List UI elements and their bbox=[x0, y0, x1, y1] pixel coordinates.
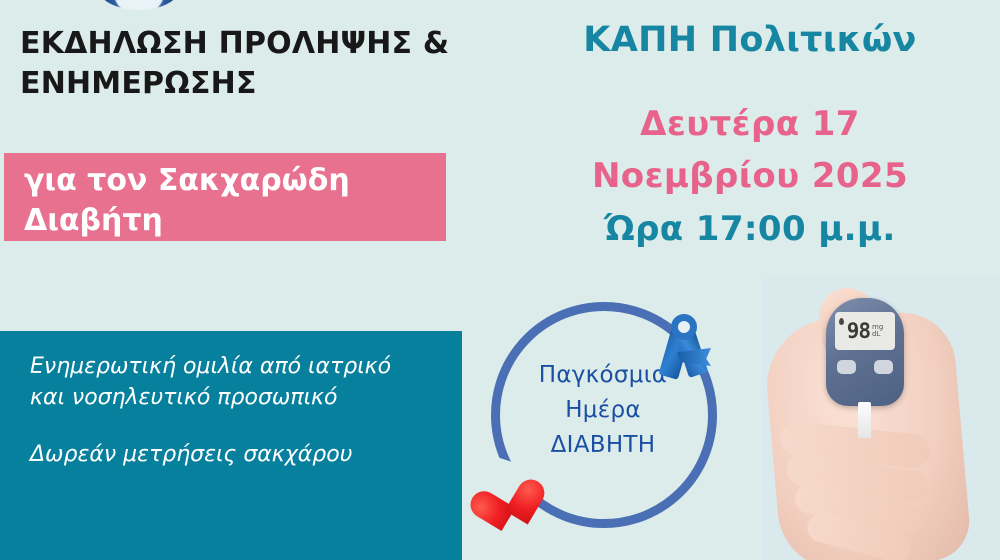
glucose-reading-value: 98 bbox=[847, 319, 870, 343]
test-strip bbox=[858, 402, 871, 438]
organization-logo-icon bbox=[98, 0, 180, 10]
event-date-block: Δευτέρα 17 Νοεμβρίου 2025 Ώρα 17:00 μ.μ. bbox=[510, 98, 990, 255]
venue-title: ΚΑΠΗ Πολιτικών bbox=[510, 20, 990, 61]
logo-arc-shape bbox=[98, 0, 180, 10]
page-title: ΕΚΔΗΛΩΣΗ ΠΡΟΛΗΨΗΣ & ΕΝΗΜΕΡΩΣΗΣ bbox=[20, 24, 500, 103]
subtitle-banner-label: για τον Σακχαρώδη Διαβήτη bbox=[24, 161, 438, 240]
info-panel: Ενημερωτική ομιλία από ιατρικό και νοσηλ… bbox=[0, 331, 462, 560]
info-panel-item-2: Δωρεάν μετρήσεις σακχάρου bbox=[30, 439, 392, 470]
red-heart-icon bbox=[491, 479, 546, 533]
glucose-meter-screen: 98 mg dL bbox=[835, 312, 895, 350]
hand-holding-glucose-meter-image: 98 mg dL bbox=[762, 278, 1000, 560]
world-diabetes-day-emblem: Παγκόσμια Ημέρα ΔΙΑΒΗΤΗ bbox=[487, 298, 727, 560]
emblem-line-2: Ημέρα bbox=[487, 393, 719, 428]
emblem-line-3: ΔΙΑΒΗΤΗ bbox=[487, 428, 719, 463]
event-date-line-2: Νοεμβρίου 2025 bbox=[510, 150, 990, 202]
glucose-reading-unit: mg dL bbox=[872, 324, 883, 339]
event-time-line: Ώρα 17:00 μ.μ. bbox=[510, 203, 990, 255]
blue-awareness-ribbon-icon bbox=[653, 308, 715, 382]
subtitle-banner: για τον Σακχαρώδη Διαβήτη bbox=[4, 153, 446, 241]
info-panel-body: Ενημερωτική ομιλία από ιατρικό και νοσηλ… bbox=[30, 351, 392, 471]
info-panel-item-1: Ενημερωτική ομιλία από ιατρικό και νοσηλ… bbox=[30, 351, 392, 413]
event-date-line-1: Δευτέρα 17 bbox=[510, 98, 990, 150]
poster-canvas: ΕΚΔΗΛΩΣΗ ΠΡΟΛΗΨΗΣ & ΕΝΗΜΕΡΩΣΗΣ ΚΑΠΗ Πολι… bbox=[0, 0, 1000, 560]
glucose-meter-device: 98 mg dL bbox=[826, 298, 904, 406]
meter-button-left[interactable] bbox=[837, 360, 856, 374]
blood-drop-icon bbox=[839, 318, 844, 325]
meter-button-right[interactable] bbox=[874, 360, 893, 374]
unit-denominator: dL bbox=[872, 330, 880, 338]
